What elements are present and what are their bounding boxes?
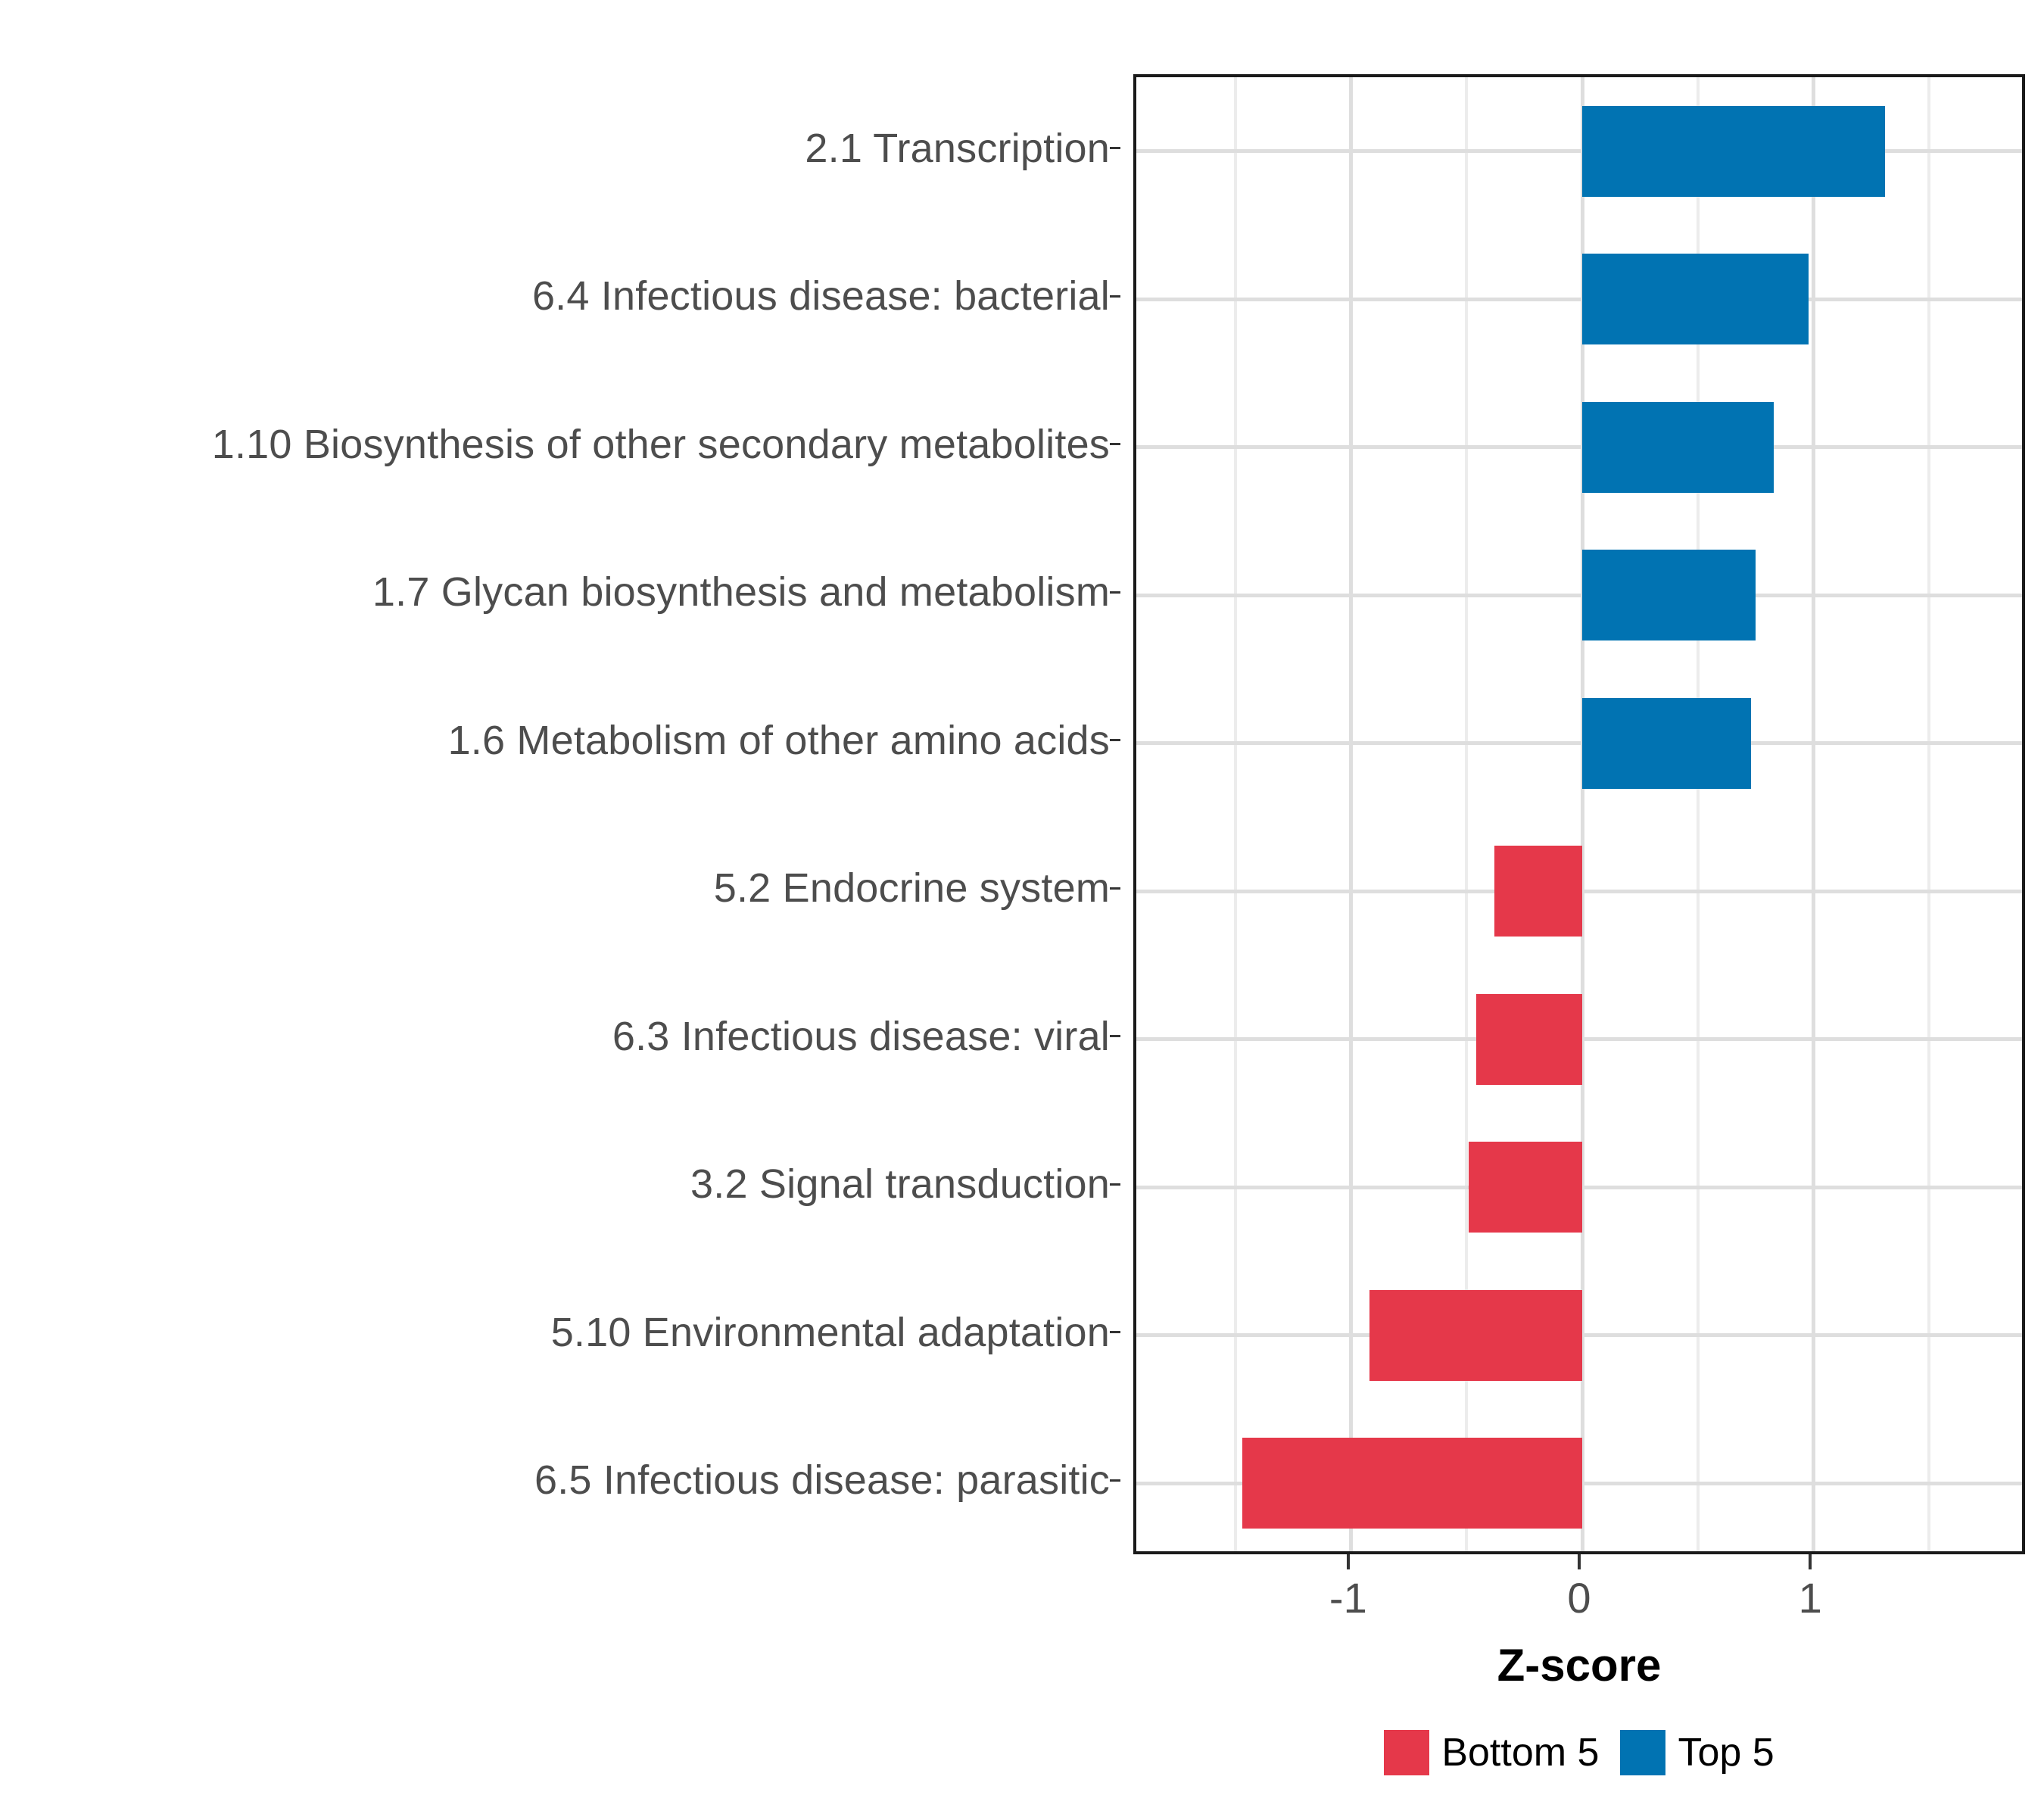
y-axis-tick-mark [1110, 295, 1120, 298]
y-axis-tick-mark [1110, 1479, 1120, 1482]
y-axis-tick-label-row: 6.5 Infectious disease: parasitic [0, 1407, 1120, 1555]
legend-label: Bottom 5 [1441, 1730, 1599, 1775]
y-axis-tick-mark [1110, 1183, 1120, 1186]
horizontal-gridline [1136, 149, 2022, 153]
legend-color-swatch [1620, 1730, 1665, 1775]
y-axis-tick-label: 5.10 Environmental adaptation [551, 1309, 1120, 1356]
legend-item[interactable]: Top 5 [1620, 1730, 1774, 1775]
bar [1476, 994, 1582, 1085]
x-axis-tick-mark [1809, 1554, 1812, 1569]
x-axis-tick-label: 1 [1799, 1573, 1822, 1622]
y-axis-tick-label-row: 6.4 Infectious disease: bacterial [0, 223, 1120, 371]
x-axis-tick-mark [1578, 1554, 1581, 1569]
y-axis-tick-mark [1110, 1331, 1120, 1333]
y-axis-tick-label-row: 1.10 Biosynthesis of other secondary met… [0, 370, 1120, 519]
y-axis-tick-label-row: 6.3 Infectious disease: viral [0, 962, 1120, 1111]
bar [1494, 846, 1582, 937]
y-axis-tick-mark [1110, 1035, 1120, 1037]
x-axis-tick-mark [1347, 1554, 1350, 1569]
y-axis-tick-label: 1.10 Biosynthesis of other secondary met… [212, 421, 1120, 468]
x-axis-tick-label: -1 [1329, 1573, 1367, 1622]
chart-legend: Bottom 5Top 5 [1133, 1730, 2025, 1775]
y-axis-tick-label-row: 2.1 Transcription [0, 74, 1120, 223]
y-axis-tick-label-row: 5.10 Environmental adaptation [0, 1258, 1120, 1407]
y-axis-tick-label: 6.3 Infectious disease: viral [612, 1013, 1120, 1060]
y-axis-tick-label-row: 1.6 Metabolism of other amino acids [0, 666, 1120, 815]
y-axis-tick-mark [1110, 739, 1120, 741]
y-axis-tick-label: 6.4 Infectious disease: bacterial [532, 273, 1120, 319]
bar [1582, 698, 1751, 789]
bar-chart-figure: 2.1 Transcription6.4 Infectious disease:… [0, 0, 2044, 1817]
y-axis-tick-label: 1.7 Glycan biosynthesis and metabolism [372, 569, 1120, 616]
y-axis-tick-label-row: 1.7 Glycan biosynthesis and metabolism [0, 519, 1120, 667]
y-axis-tick-label: 5.2 Endocrine system [714, 865, 1120, 912]
horizontal-gridline [1136, 445, 2022, 449]
plot-panel [1133, 74, 2025, 1554]
bar [1242, 1438, 1582, 1529]
y-axis-tick-mark [1110, 591, 1120, 594]
legend-label: Top 5 [1678, 1730, 1774, 1775]
y-axis-tick-mark [1110, 443, 1120, 445]
bar [1369, 1290, 1582, 1381]
y-axis-tick-label: 6.5 Infectious disease: parasitic [534, 1457, 1120, 1504]
y-axis-tick-mark [1110, 887, 1120, 890]
legend-color-swatch [1384, 1730, 1429, 1775]
y-axis-tick-label: 2.1 Transcription [805, 125, 1120, 172]
y-axis-category-labels: 2.1 Transcription6.4 Infectious disease:… [0, 74, 1120, 1554]
bar [1469, 1142, 1582, 1233]
horizontal-gridline [1136, 741, 2022, 745]
bar [1582, 254, 1809, 344]
y-axis-tick-mark [1110, 147, 1120, 149]
y-axis-tick-label-row: 5.2 Endocrine system [0, 815, 1120, 963]
bar [1582, 402, 1774, 493]
bar [1582, 550, 1756, 640]
bar [1582, 106, 1885, 197]
y-axis-tick-label: 3.2 Signal transduction [690, 1161, 1120, 1208]
horizontal-gridline [1136, 594, 2022, 597]
horizontal-gridline [1136, 298, 2022, 301]
x-axis-tick-label: 0 [1567, 1573, 1591, 1622]
y-axis-tick-label: 1.6 Metabolism of other amino acids [448, 717, 1120, 764]
x-axis-title: Z-score [1133, 1639, 2025, 1691]
legend-item[interactable]: Bottom 5 [1384, 1730, 1599, 1775]
y-axis-tick-label-row: 3.2 Signal transduction [0, 1111, 1120, 1259]
